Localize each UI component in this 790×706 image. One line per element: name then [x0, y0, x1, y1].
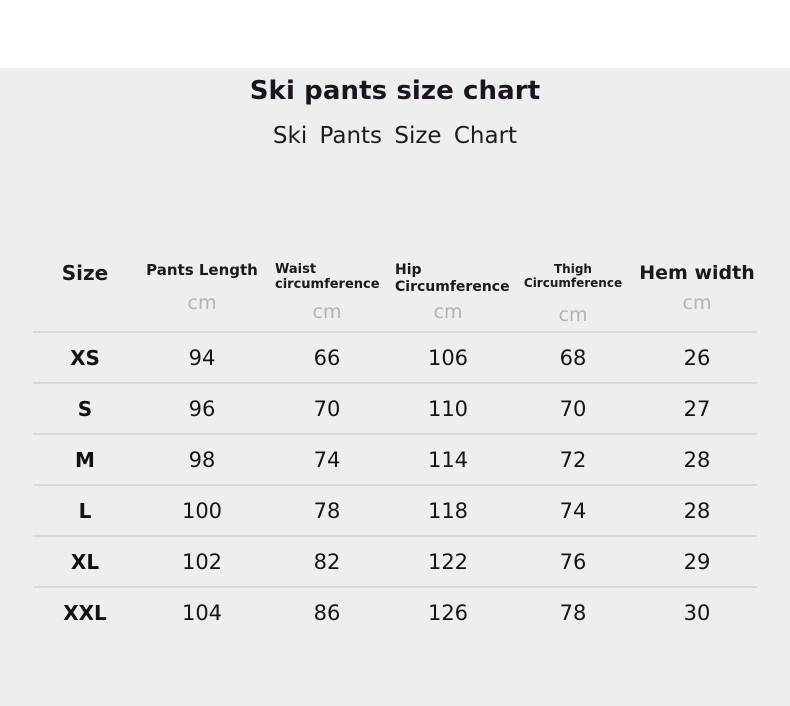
title-block: Ski pants size chart Ski Pants Size Char… — [0, 75, 790, 151]
header-unit-hip-circumference: cm — [387, 303, 509, 322]
cell-thigh: 70 — [509, 384, 637, 433]
size-chart-table: Size Pants Length cm Waist circumference… — [33, 252, 757, 637]
cell-waist: 82 — [267, 537, 387, 586]
header-cell-waist-circumference: Waist circumference cm — [267, 252, 387, 331]
header-label-size: Size — [33, 262, 137, 286]
header-cell-thigh-circumference: Thigh Circumference cm — [509, 252, 637, 331]
cell-hip: 106 — [387, 333, 509, 382]
header-cell-hip-circumference: Hip Circumference cm — [387, 252, 509, 331]
cell-hip: 122 — [387, 537, 509, 586]
table-row: XL 102 82 122 76 29 — [33, 535, 757, 586]
cell-hip: 114 — [387, 435, 509, 484]
header-unit-waist-circumference: cm — [267, 303, 387, 322]
cell-hip: 126 — [387, 588, 509, 637]
cell-pants-length: 98 — [137, 435, 267, 484]
header-label-pants-length: Pants Length — [137, 262, 267, 280]
cell-pants-length: 100 — [137, 486, 267, 535]
cell-size: XL — [33, 537, 137, 586]
header-label-hem-width: Hem width — [637, 262, 757, 284]
table-row: M 98 74 114 72 28 — [33, 433, 757, 484]
header-cell-pants-length: Pants Length cm — [137, 252, 267, 331]
header-label-waist-circumference: Waist circumference — [267, 262, 387, 293]
cell-pants-length: 94 — [137, 333, 267, 382]
cell-hip: 110 — [387, 384, 509, 433]
cell-size: M — [33, 435, 137, 484]
table-header-row: Size Pants Length cm Waist circumference… — [33, 252, 757, 331]
cell-hem: 28 — [637, 486, 757, 535]
size-chart-page: Ski pants size chart Ski Pants Size Char… — [0, 0, 790, 706]
cell-waist: 70 — [267, 384, 387, 433]
cell-size: XS — [33, 333, 137, 382]
cell-size: XXL — [33, 588, 137, 637]
cell-waist: 66 — [267, 333, 387, 382]
cell-pants-length: 104 — [137, 588, 267, 637]
table-row: XXL 104 86 126 78 30 — [33, 586, 757, 637]
header-cell-hem-width: Hem width cm — [637, 252, 757, 331]
cell-pants-length: 102 — [137, 537, 267, 586]
table-row: L 100 78 118 74 28 — [33, 484, 757, 535]
header-unit-pants-length: cm — [137, 294, 267, 313]
page-subtitle: Ski Pants Size Chart — [0, 121, 790, 151]
cell-thigh: 72 — [509, 435, 637, 484]
cell-thigh: 76 — [509, 537, 637, 586]
header-label-thigh-circumference: Thigh Circumference — [509, 262, 637, 290]
cell-pants-length: 96 — [137, 384, 267, 433]
cell-thigh: 68 — [509, 333, 637, 382]
table-row: S 96 70 110 70 27 — [33, 382, 757, 433]
table-row: XS 94 66 106 68 26 — [33, 331, 757, 382]
cell-size: L — [33, 486, 137, 535]
cell-hem: 26 — [637, 333, 757, 382]
header-unit-hem-width: cm — [637, 294, 757, 313]
header-unit-thigh-circumference: cm — [509, 306, 637, 325]
cell-size: S — [33, 384, 137, 433]
cell-waist: 74 — [267, 435, 387, 484]
header-cell-size: Size — [33, 252, 137, 331]
cell-hem: 29 — [637, 537, 757, 586]
cell-waist: 86 — [267, 588, 387, 637]
page-title: Ski pants size chart — [0, 75, 790, 107]
cell-thigh: 78 — [509, 588, 637, 637]
cell-hem: 30 — [637, 588, 757, 637]
cell-hem: 27 — [637, 384, 757, 433]
cell-waist: 78 — [267, 486, 387, 535]
cell-hip: 118 — [387, 486, 509, 535]
cell-thigh: 74 — [509, 486, 637, 535]
header-label-hip-circumference: Hip Circumference — [387, 262, 509, 295]
cell-hem: 28 — [637, 435, 757, 484]
